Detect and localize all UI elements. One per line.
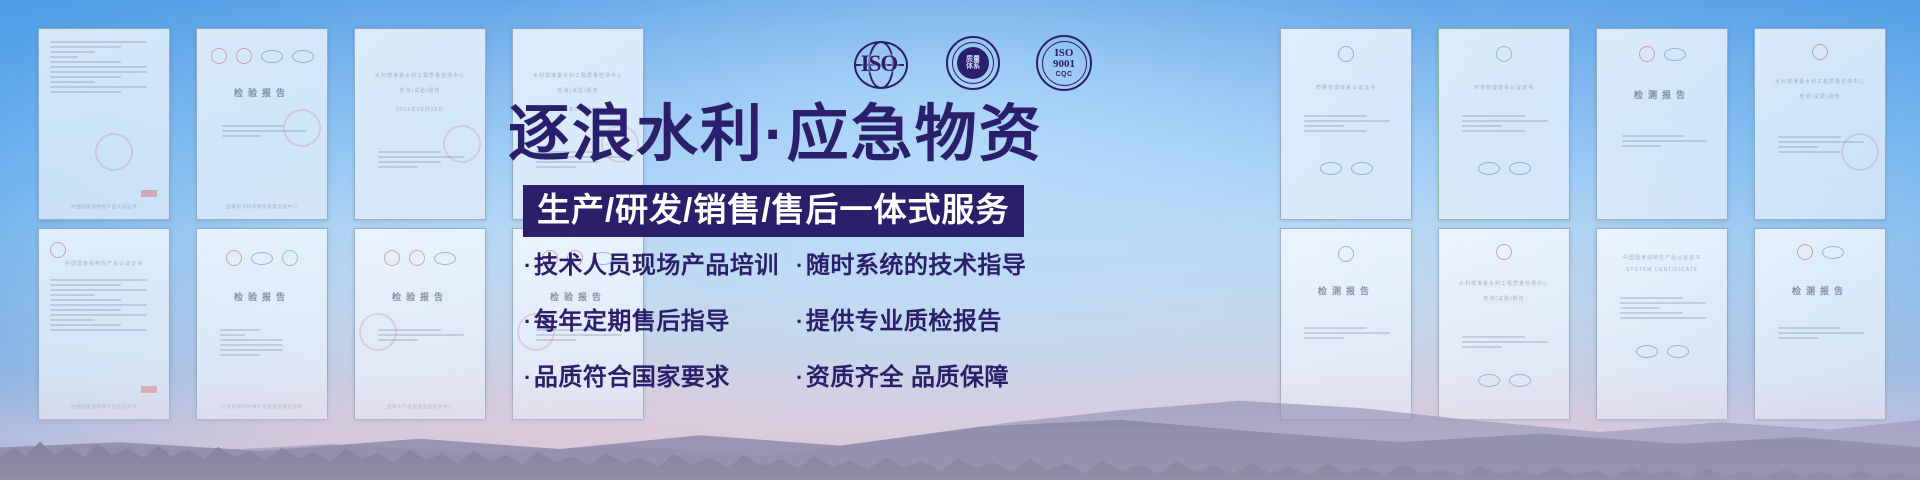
banner-copy: 逐浪水利·应急物资 生产/研发/销售/售后一体式服务 · 技术人员现场产品培训 … <box>0 0 1920 480</box>
banner-subtitle: 生产/研发/销售/售后一体式服务 <box>537 193 1010 227</box>
feature-bullet: · 资质齐全 品质保障 <box>796 357 1064 392</box>
feature-bullet: · 品质符合国家要求 <box>524 357 796 392</box>
feature-bullet-label: 资质齐全 品质保障 <box>806 357 1009 392</box>
feature-bullet-grid: · 技术人员现场产品培训 · 随时系统的技术指导 · 每年定期售后指导 · 提供… <box>524 245 1064 392</box>
feature-bullet: · 提供专业质检报告 <box>796 301 1064 336</box>
banner-subtitle-bar: 生产/研发/销售/售后一体式服务 <box>523 185 1024 237</box>
bullet-dot-icon: · <box>796 255 804 277</box>
feature-bullet: · 每年定期售后指导 <box>524 301 796 336</box>
feature-bullet-label: 技术人员现场产品培训 <box>534 245 779 280</box>
feature-bullet-label: 品质符合国家要求 <box>534 357 730 392</box>
bullet-dot-icon: · <box>524 311 532 333</box>
bullet-dot-icon: · <box>796 367 804 389</box>
banner-headline: 逐浪水利·应急物资 <box>508 104 1078 166</box>
promotional-banner: 中国国家强制性产品认证证书 检验报告 国家防汛抗旱物资质量监督中心 <box>0 0 1920 480</box>
feature-bullet: · 技术人员现场产品培训 <box>524 245 796 280</box>
feature-bullet: · 随时系统的技术指导 <box>796 245 1064 280</box>
bullet-dot-icon: · <box>796 311 804 333</box>
feature-bullet-label: 每年定期售后指导 <box>534 301 730 336</box>
bullet-dot-icon: · <box>524 255 532 277</box>
bullet-dot-icon: · <box>524 367 532 389</box>
feature-bullet-label: 随时系统的技术指导 <box>806 245 1027 280</box>
feature-bullet-label: 提供专业质检报告 <box>806 301 1002 336</box>
